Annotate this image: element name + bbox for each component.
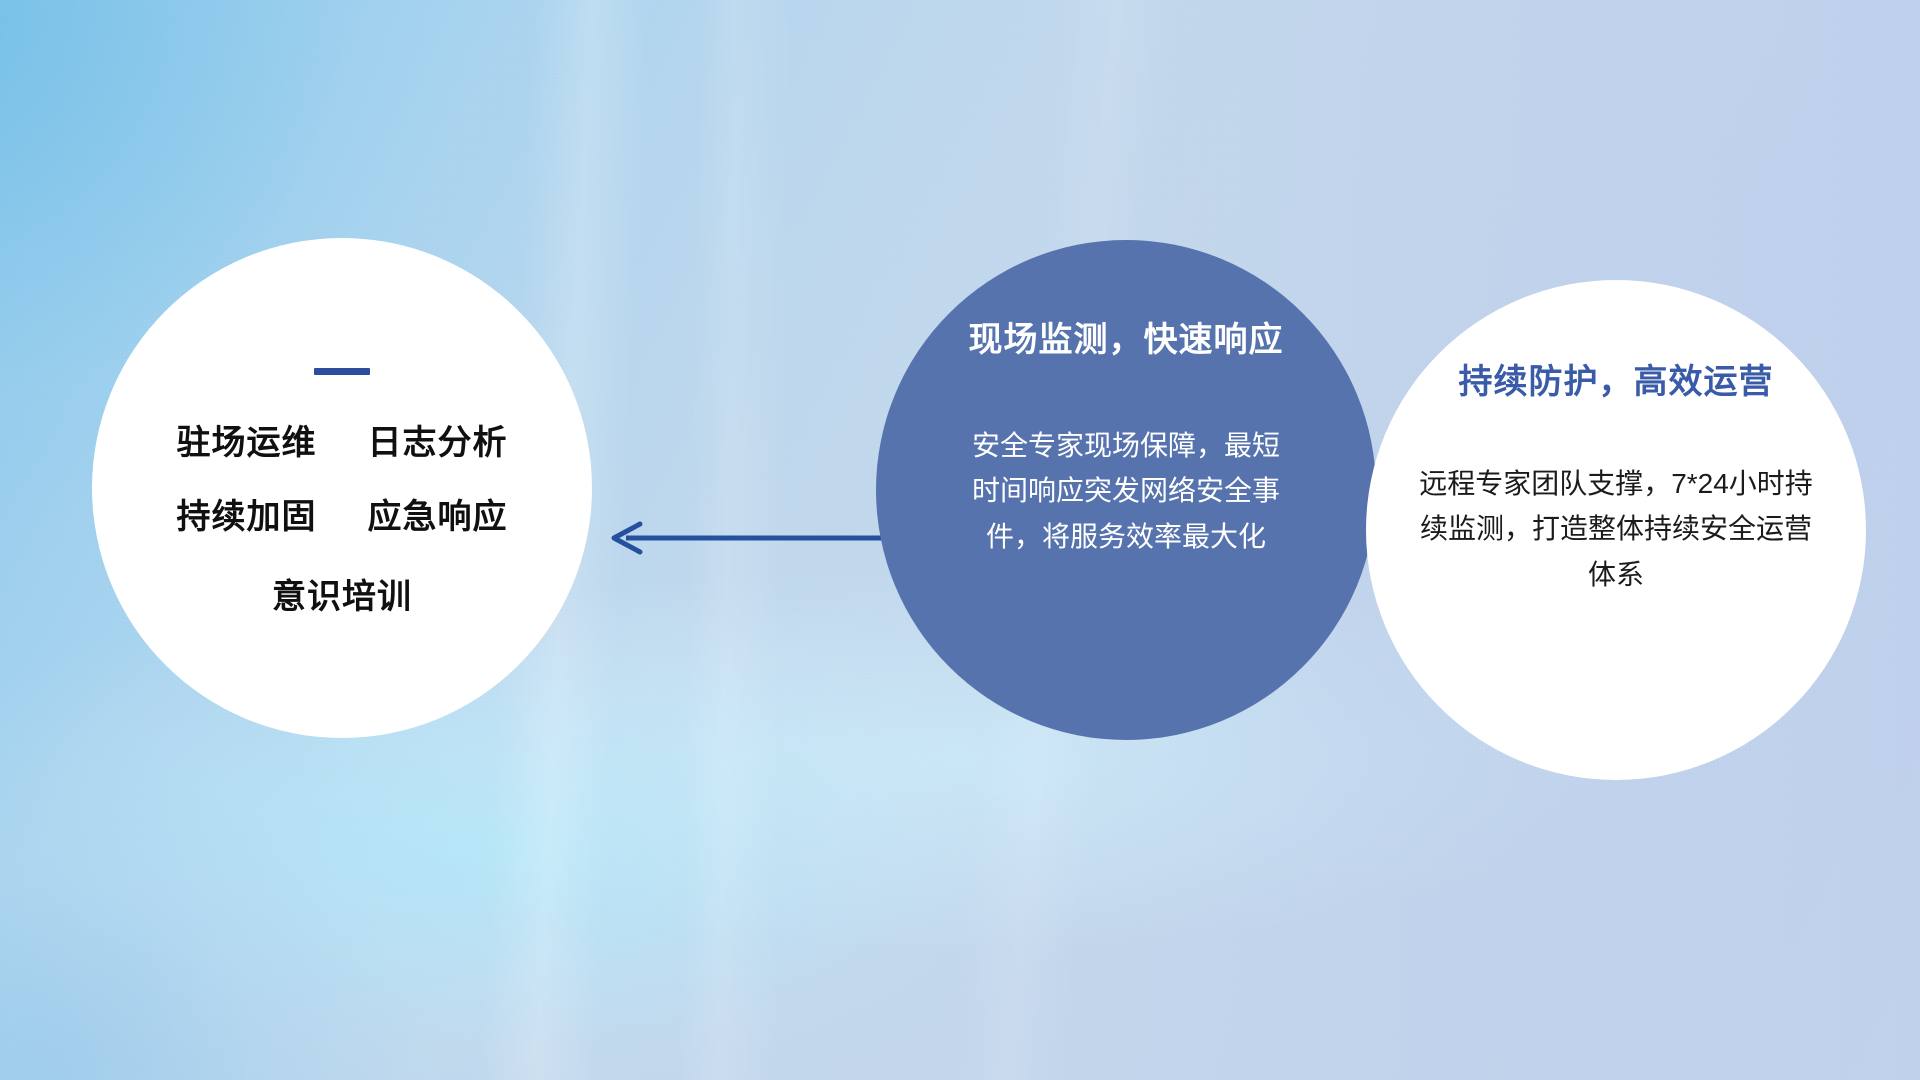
middle-circle-content: 现场监测，快速响应 安全专家现场保障，最短时间响应突发网络安全事件，将服务效率最…	[876, 240, 1376, 740]
capability-emergency-response: 应急响应	[367, 498, 507, 536]
left-capability-circle: 驻场运维 日志分析 持续加固 应急响应 意识培训	[92, 238, 592, 738]
infographic-canvas: 驻场运维 日志分析 持续加固 应急响应 意识培训 现场监测，快速响应 安全专家现…	[0, 0, 1920, 1080]
capability-continuous-hardening: 持续加固	[177, 498, 317, 536]
arrow-left-icon	[600, 520, 890, 556]
capability-awareness-training: 意识培训	[272, 578, 412, 616]
middle-circle-title: 现场监测，快速响应	[969, 312, 1284, 361]
capability-log-analysis: 日志分析	[367, 424, 507, 462]
left-circle-content: 驻场运维 日志分析 持续加固 应急响应 意识培训	[92, 238, 592, 738]
capability-row: 意识培训	[272, 579, 412, 616]
blue-divider-bar	[314, 368, 370, 375]
capability-row: 持续加固 应急响应	[177, 499, 508, 536]
right-continuous-protection-circle: 持续防护，高效运营 远程专家团队支撑，7*24小时持续监测，打造整体持续安全运营…	[1366, 280, 1866, 780]
right-circle-body: 远程专家团队支撑，7*24小时持续监测，打造整体持续安全运营体系	[1409, 461, 1823, 597]
right-circle-title: 持续防护，高效运营	[1459, 354, 1774, 403]
middle-circle-body: 安全专家现场保障，最短时间响应突发网络安全事件，将服务效率最大化	[967, 423, 1285, 559]
capability-onsite-ops: 驻场运维	[177, 424, 317, 462]
middle-onsite-monitoring-circle: 现场监测，快速响应 安全专家现场保障，最短时间响应突发网络安全事件，将服务效率最…	[876, 240, 1376, 740]
capability-row: 驻场运维 日志分析	[177, 425, 508, 462]
right-circle-content: 持续防护，高效运营 远程专家团队支撑，7*24小时持续监测，打造整体持续安全运营…	[1366, 280, 1866, 780]
